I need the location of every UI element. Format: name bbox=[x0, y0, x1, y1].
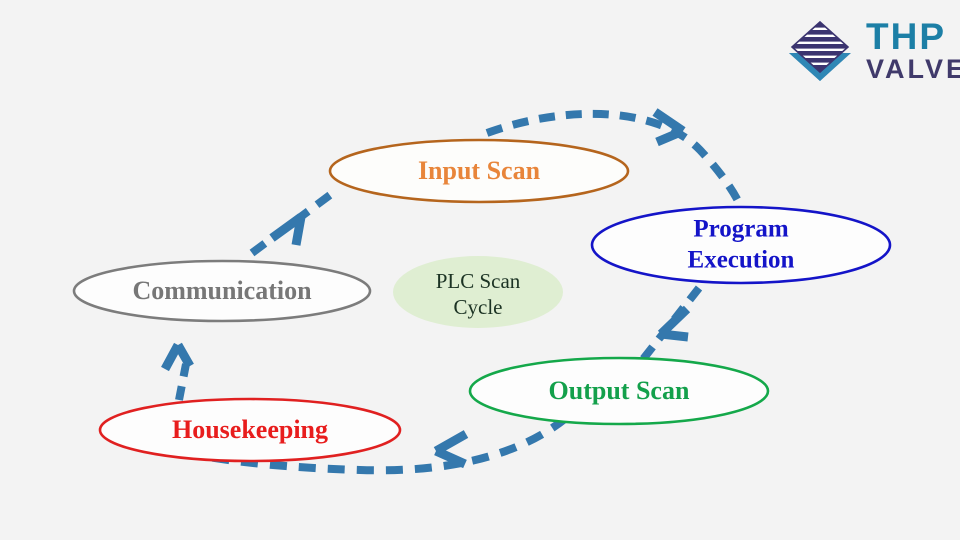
node-program-execution[interactable]: Program Execution bbox=[592, 207, 890, 283]
node-housekeeping-label: Housekeeping bbox=[172, 415, 328, 444]
node-plc-scan-cycle[interactable]: PLC Scan Cycle bbox=[393, 256, 563, 328]
node-communication[interactable]: Communication bbox=[74, 261, 370, 321]
logo-main-text: THP bbox=[866, 16, 946, 57]
node-input-scan[interactable]: Input Scan bbox=[330, 140, 628, 202]
node-communication-label: Communication bbox=[132, 276, 312, 305]
node-plc-scan-cycle-label-line1: PLC Scan bbox=[436, 269, 521, 293]
diagram-canvas: THP VALVE PLC Scan Cycle bbox=[0, 0, 960, 540]
node-plc-scan-cycle-label-line2: Cycle bbox=[454, 295, 503, 319]
node-output-scan-label: Output Scan bbox=[549, 376, 690, 405]
plc-scan-cycle-diagram: THP VALVE PLC Scan Cycle bbox=[0, 0, 960, 540]
logo-sub-text: VALVE bbox=[866, 54, 960, 84]
node-program-execution-label-line2: Execution bbox=[688, 247, 795, 274]
node-program-execution-label-line1: Program bbox=[693, 216, 789, 243]
node-housekeeping[interactable]: Housekeeping bbox=[100, 399, 400, 461]
node-output-scan[interactable]: Output Scan bbox=[470, 358, 768, 424]
node-input-scan-label: Input Scan bbox=[418, 156, 541, 185]
